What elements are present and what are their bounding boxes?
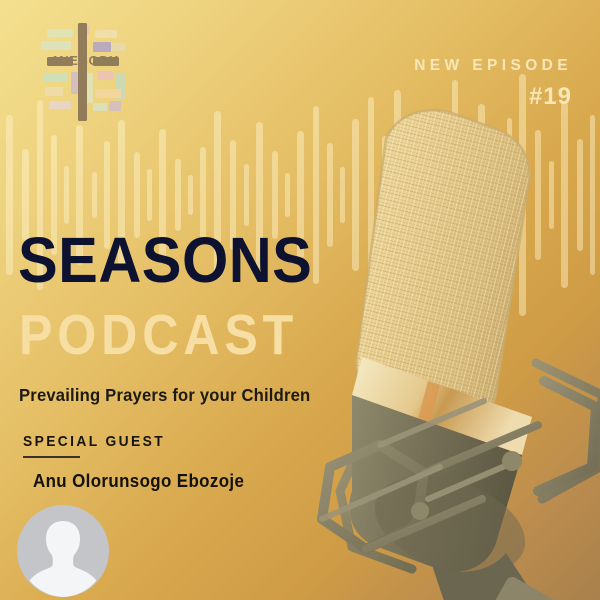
special-guest-name: Anu Olorunsogo Ebozoje (33, 472, 244, 490)
waveform-bar (147, 169, 152, 221)
waveform-bar (340, 167, 345, 223)
waveform-bar (6, 115, 13, 275)
waveform-bar (394, 90, 401, 300)
waveform-bar (352, 119, 359, 271)
waveform-bar (507, 118, 512, 272)
waveform-bar (64, 166, 69, 224)
episode-number: #19 (414, 85, 572, 109)
waveform-bar (519, 74, 526, 316)
logo-wordmark: 1NEBODY (51, 53, 118, 68)
waveform-bar (424, 158, 429, 232)
waveform-bar (452, 80, 458, 310)
new-episode-label: NEW EPISODE (414, 58, 572, 74)
waveform-bar (175, 159, 181, 231)
waveform-bar (188, 175, 193, 215)
waveform-bar (382, 136, 387, 254)
podcast-episode-poster: 1NEBODY NEW EPISODE #19 SEASONS PODCAST … (0, 0, 600, 600)
waveform-bar (244, 164, 249, 226)
waveform-bar (285, 173, 290, 217)
waveform-bar (478, 104, 485, 286)
waveform-bar (535, 130, 541, 260)
waveform-bar (410, 126, 416, 264)
waveform-bar (313, 106, 319, 284)
episode-tagline: Prevailing Prayers for your Children (19, 387, 310, 405)
special-guest-underline (23, 456, 80, 458)
waveform-bar (494, 146, 500, 244)
condenser-microphone-icon (300, 95, 600, 600)
waveform-bar (368, 97, 374, 293)
waveform-bar (577, 139, 583, 251)
podcast-subtitle: PODCAST (19, 307, 298, 364)
special-guest-label: SPECIAL GUEST (23, 434, 165, 449)
waveform-bar (327, 143, 333, 247)
waveform-bar (549, 161, 554, 229)
podcast-title: SEASONS (18, 228, 312, 292)
waveform-bar (436, 113, 443, 277)
waveform-bar (466, 132, 471, 258)
episode-badge: NEW EPISODE #19 (414, 58, 572, 109)
default-user-avatar-icon (17, 505, 109, 597)
cross-mosaic-logo: 1NEBODY (33, 17, 137, 125)
waveform-bar (561, 102, 568, 288)
waveform-bar (590, 115, 595, 275)
waveform-bar (92, 172, 97, 218)
